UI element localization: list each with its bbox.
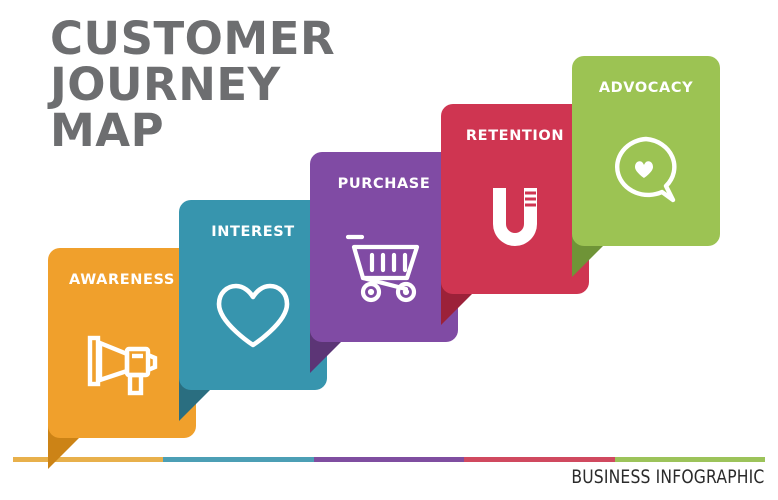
speech-bubble-heart-icon [600,124,692,216]
title-line-1: CUSTOMER [50,16,410,62]
rule-segment-2 [163,457,313,462]
infographic-canvas: CUSTOMER JOURNEY MAP AWARENESS INTER [0,0,778,500]
journey-step-retention[interactable]: RETENTION [441,104,589,294]
journey-step-purchase[interactable]: PURCHASE [310,152,458,342]
step-label-purchase: PURCHASE [310,176,458,192]
heart-icon [207,268,299,360]
step-label-advocacy: ADVOCACY [572,80,720,96]
rule-segment-5 [615,457,765,462]
magnet-icon [469,172,561,264]
step-label-retention: RETENTION [441,128,589,144]
journey-step-awareness[interactable]: AWARENESS [48,248,196,438]
page-title: CUSTOMER JOURNEY MAP [50,16,410,154]
step-label-awareness: AWARENESS [48,272,196,288]
megaphone-icon [76,316,168,408]
footer-label: BUSINESS INFOGRAPHIC [571,466,764,488]
step-label-interest: INTEREST [179,224,327,240]
color-rule [13,457,765,462]
journey-step-interest[interactable]: INTEREST [179,200,327,390]
title-line-3: MAP [50,108,410,154]
rule-segment-3 [314,457,464,462]
rule-segment-4 [464,457,614,462]
journey-step-advocacy[interactable]: ADVOCACY [572,56,720,246]
title-line-2: JOURNEY [50,62,410,108]
shopping-cart-icon [338,220,430,312]
